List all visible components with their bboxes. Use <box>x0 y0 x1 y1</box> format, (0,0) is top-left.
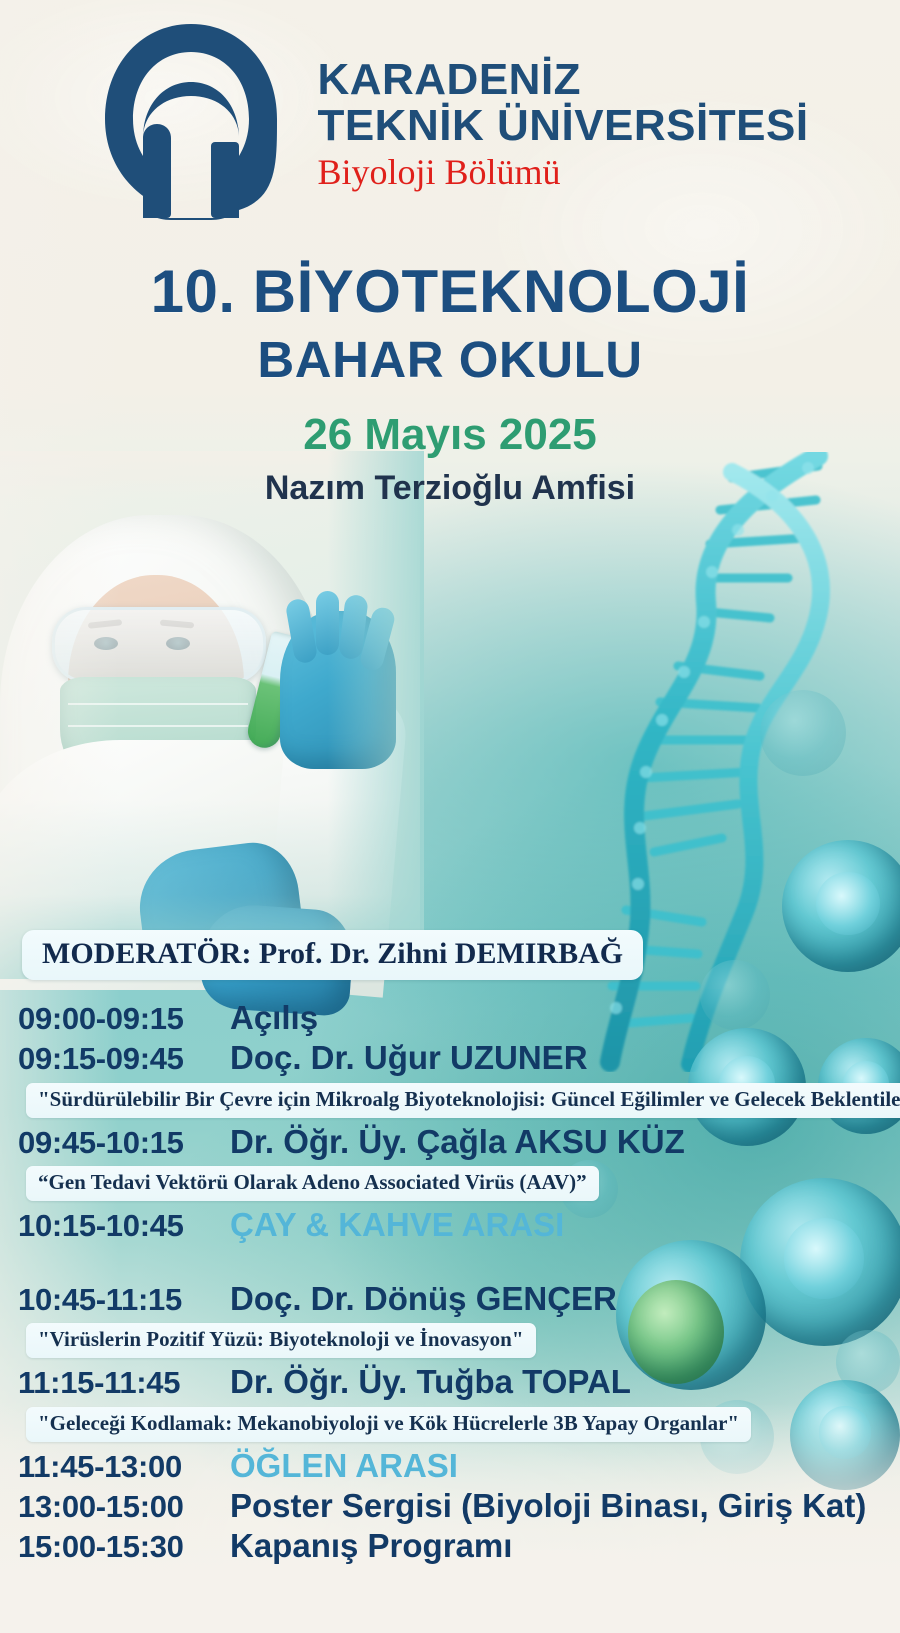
schedule-row: 09:45-10:15Dr. Öğr. Üy. Çağla AKSU KÜZ <box>0 1122 900 1162</box>
department-name: Biyoloji Bölümü <box>317 154 808 190</box>
schedule-time: 11:45-13:00 <box>18 1448 230 1486</box>
schedule-label: Poster Sergisi (Biyoloji Binası, Giriş K… <box>230 1486 866 1526</box>
schedule-spacer <box>0 1245 900 1279</box>
schedule-label: Kapanış Programı <box>230 1526 512 1566</box>
schedule-label: Doç. Dr. Dönüş GENÇER <box>230 1279 617 1319</box>
schedule-row: 11:45-13:00ÖĞLEN ARASI <box>0 1446 900 1486</box>
event-title-main: 10. BİYOTEKNOLOJİ <box>0 262 900 322</box>
schedule-time: 15:00-15:30 <box>18 1528 230 1566</box>
schedule-time: 13:00-15:00 <box>18 1488 230 1526</box>
moderator-name: MODERATÖR: Prof. Dr. Zihni DEMIRBAĞ <box>42 939 623 969</box>
schedule-row: 09:00-09:15Açılış <box>0 998 900 1038</box>
moderator-banner: MODERATÖR: Prof. Dr. Zihni DEMIRBAĞ <box>22 930 643 980</box>
talk-title: “Gen Tedavi Vektörü Olarak Adeno Associa… <box>26 1166 599 1201</box>
schedule-row: 10:15-10:45ÇAY & KAHVE ARASI <box>0 1205 900 1245</box>
talk-title: "Geleceği Kodlamak: Mekanobiyoloji ve Kö… <box>26 1407 751 1442</box>
schedule-time: 11:15-11:45 <box>18 1364 230 1402</box>
schedule-label: Dr. Öğr. Üy. Tuğba TOPAL <box>230 1362 631 1402</box>
event-title-block: 10. BİYOTEKNOLOJİ BAHAR OKULU 26 Mayıs 2… <box>0 262 900 505</box>
university-name-line2: TEKNİK ÜNİVERSİTESİ <box>317 103 808 149</box>
schedule-row: 11:15-11:45Dr. Öğr. Üy. Tuğba TOPAL <box>0 1362 900 1402</box>
schedule-time: 09:45-10:15 <box>18 1124 230 1162</box>
event-title-sub: BAHAR OKULU <box>0 334 900 385</box>
ktu-logo-icon <box>91 18 291 223</box>
university-name-line1: KARADENİZ <box>317 57 808 103</box>
event-venue: Nazım Terzioğlu Amfisi <box>0 471 900 505</box>
poster: KARADENİZ TEKNİK ÜNİVERSİTESİ Biyoloji B… <box>0 0 900 1633</box>
schedule-label: ÖĞLEN ARASI <box>230 1446 458 1486</box>
schedule-label: Dr. Öğr. Üy. Çağla AKSU KÜZ <box>230 1122 685 1162</box>
poster-header: KARADENİZ TEKNİK ÜNİVERSİTESİ Biyoloji B… <box>0 18 900 223</box>
talk-title: "Sürdürülebilir Bir Çevre için Mikroalg … <box>26 1083 900 1118</box>
schedule-time: 09:15-09:45 <box>18 1040 230 1078</box>
schedule-time: 10:15-10:45 <box>18 1207 230 1245</box>
schedule-time: 09:00-09:15 <box>18 1000 230 1038</box>
schedule-row: 15:00-15:30Kapanış Programı <box>0 1526 900 1566</box>
talk-title: "Virüslerin Pozitif Yüzü: Biyoteknoloji … <box>26 1323 536 1358</box>
schedule-row: 09:15-09:45Doç. Dr. Uğur UZUNER <box>0 1038 900 1078</box>
schedule-label: Doç. Dr. Uğur UZUNER <box>230 1038 588 1078</box>
schedule-label: Açılış <box>230 998 318 1038</box>
schedule-label: ÇAY & KAHVE ARASI <box>230 1205 564 1245</box>
event-date: 26 Mayıs 2025 <box>0 413 900 457</box>
schedule-list: 09:00-09:15Açılış09:15-09:45Doç. Dr. Uğu… <box>0 998 900 1566</box>
schedule-time: 10:45-11:15 <box>18 1281 230 1319</box>
schedule-row: 13:00-15:00Poster Sergisi (Biyoloji Bina… <box>0 1486 900 1526</box>
schedule-row: 10:45-11:15Doç. Dr. Dönüş GENÇER <box>0 1279 900 1319</box>
